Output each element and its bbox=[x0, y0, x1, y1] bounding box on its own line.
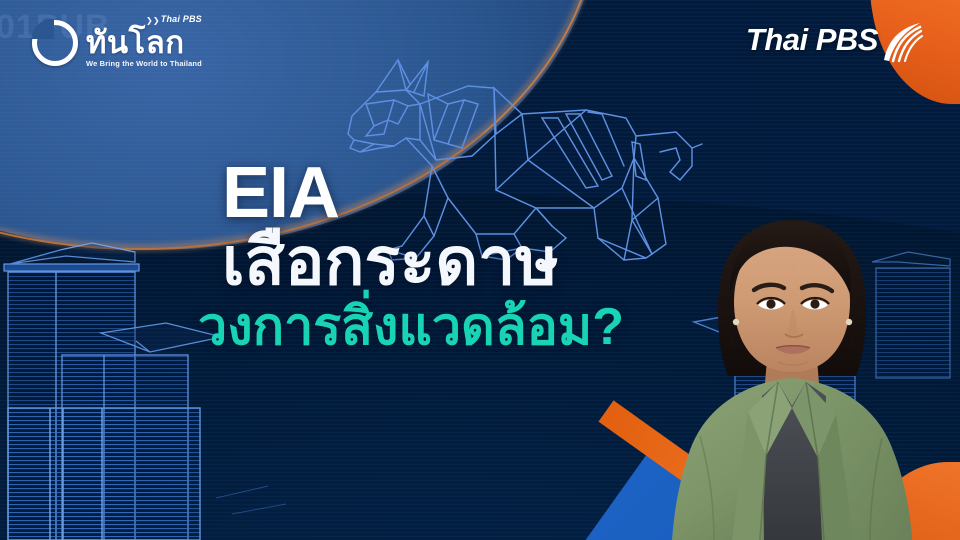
headline-block: EIA เสือกระดาษ วงการสิ่งแวดล้อม? bbox=[222, 158, 742, 356]
thumbnail-canvas: 01PUB ❯❯Thai PBS ทันโลก We Bring the Wor… bbox=[0, 0, 960, 540]
logo-network-tag-text: Thai PBS bbox=[161, 14, 202, 24]
headline-line-environment: วงการสิ่งแวดล้อม? bbox=[198, 298, 742, 356]
ring-logo-icon bbox=[32, 20, 78, 66]
logo-network-tag: ❯❯Thai PBS bbox=[146, 14, 202, 24]
network-logo-thaipbs: Thai PBS bbox=[746, 24, 924, 71]
news-presenter-photo bbox=[666, 210, 942, 540]
program-logo-thunlok: ❯❯Thai PBS ทันโลก We Bring the World to … bbox=[32, 18, 202, 68]
pbs-swoosh-icon bbox=[878, 20, 924, 71]
swoosh-icon: ❯❯ bbox=[146, 16, 160, 25]
network-logo-text: Thai PBS bbox=[746, 24, 878, 55]
headline-line-paper-tiger: เสือกระดาษ bbox=[222, 227, 742, 296]
logo-tagline: We Bring the World to Thailand bbox=[86, 59, 202, 68]
headline-line-eia: EIA bbox=[222, 158, 742, 229]
logo-thai-wordmark: ทันโลก bbox=[86, 27, 202, 58]
logo-wordmark: ❯❯Thai PBS ทันโลก We Bring the World to … bbox=[86, 18, 202, 68]
